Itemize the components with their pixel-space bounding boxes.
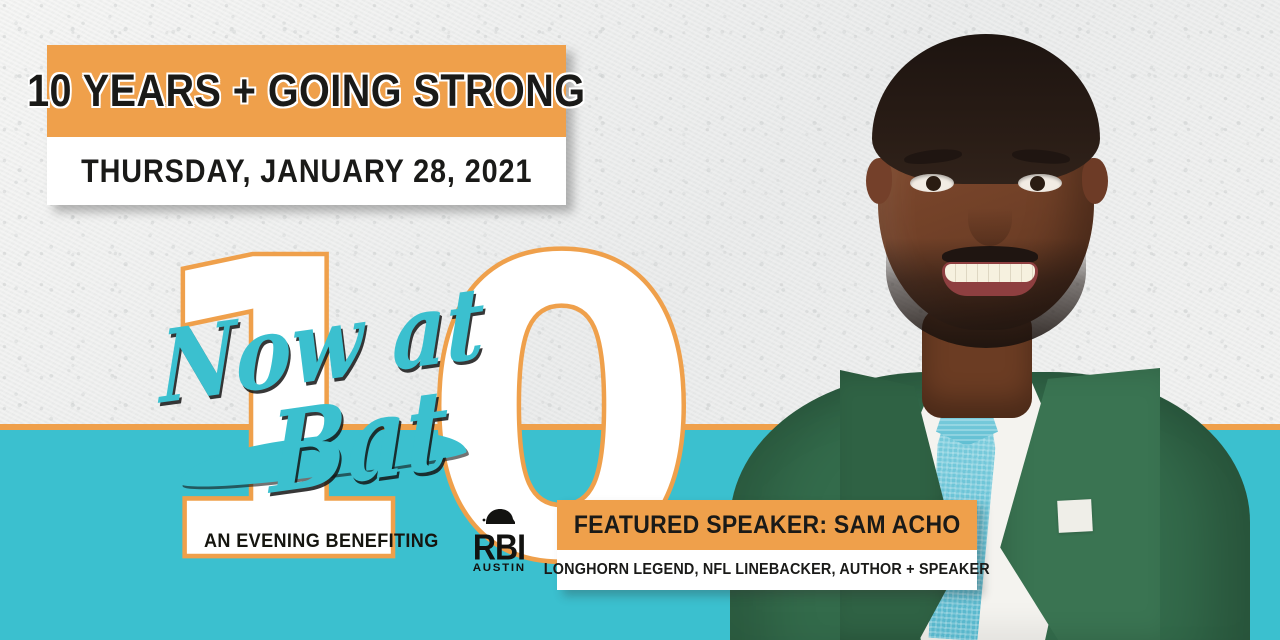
pupil-left xyxy=(926,176,941,191)
baseball-cap-icon xyxy=(482,508,516,525)
rbi-city-label: AUSTIN xyxy=(472,562,525,574)
event-headline-banner: 10 YEARS + GOING STRONG THURSDAY, JANUAR… xyxy=(47,45,566,205)
speaker-credentials-bar: LONGHORN LEGEND, NFL LINEBACKER, AUTHOR … xyxy=(557,550,977,590)
mouth xyxy=(942,262,1038,296)
pupil-right xyxy=(1030,176,1045,191)
event-banner: 10 Now at Bat AN EVENING BENEFITING RBI … xyxy=(0,0,1280,640)
speaker-title: FEATURED SPEAKER: SAM ACHO xyxy=(574,511,961,540)
event-headline: 10 YEARS + GOING STRONG xyxy=(27,65,585,117)
rbi-wordmark: RBI xyxy=(473,530,525,564)
rbi-austin-logo[interactable]: RBI AUSTIN xyxy=(463,510,535,574)
teeth xyxy=(945,264,1035,282)
featured-speaker-banner: FEATURED SPEAKER: SAM ACHO LONGHORN LEGE… xyxy=(557,500,977,590)
pocket-square xyxy=(1057,499,1093,533)
date-bar: THURSDAY, JANUARY 28, 2021 xyxy=(47,137,566,205)
ear-right xyxy=(1082,158,1108,204)
speaker-credentials: LONGHORN LEGEND, NFL LINEBACKER, AUTHOR … xyxy=(544,561,990,579)
benefiting-row: AN EVENING BENEFITING RBI AUSTIN xyxy=(204,510,535,574)
speaker-title-bar: FEATURED SPEAKER: SAM ACHO xyxy=(557,500,977,550)
event-date: THURSDAY, JANUARY 28, 2021 xyxy=(81,153,532,190)
headline-bar: 10 YEARS + GOING STRONG xyxy=(47,45,566,137)
benefiting-label: AN EVENING BENEFITING xyxy=(204,531,439,553)
